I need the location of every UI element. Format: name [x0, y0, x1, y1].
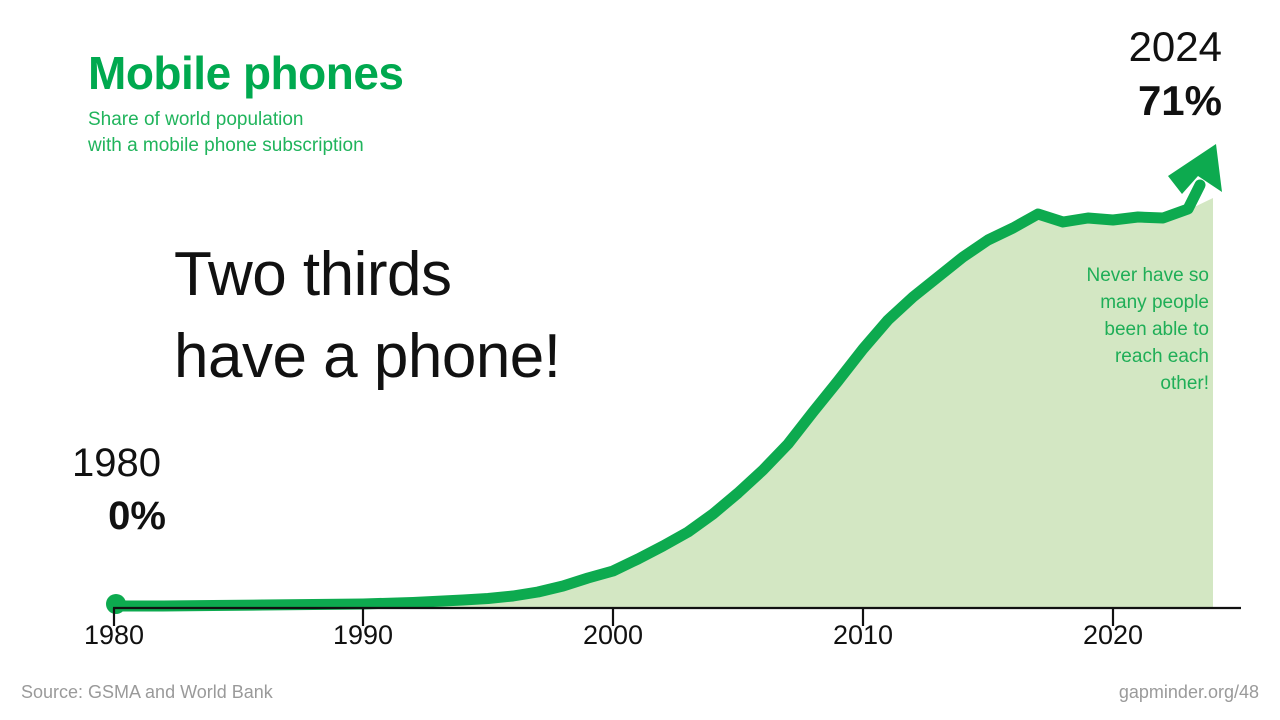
plot-annotation-line-3: been able to	[1029, 317, 1209, 344]
start-callout-year: 1980	[72, 443, 202, 483]
axis-tick-label-1980: 1980	[84, 620, 144, 651]
plot-annotation-line-2: many people	[1029, 290, 1209, 317]
chart-subtitle-line-1: Share of world population	[88, 107, 404, 133]
start-callout-value: 0%	[72, 496, 202, 536]
axis-tick-label-1990: 1990	[333, 620, 393, 651]
slide-canvas: 1980 1990 2000 2010 2020 Mobile phones S…	[0, 0, 1280, 720]
headline-text: Two thirds have a phone!	[174, 234, 561, 399]
title-block: Mobile phones Share of world population …	[88, 50, 404, 159]
axis-tick-label-2000: 2000	[583, 620, 643, 651]
start-callout: 1980 0%	[72, 443, 202, 536]
chart-title: Mobile phones	[88, 50, 404, 96]
chart-subtitle-line-2: with a mobile phone subscription	[88, 133, 404, 159]
footer-link[interactable]: gapminder.org/48	[1119, 682, 1259, 703]
axis-tick-label-2020: 2020	[1083, 620, 1143, 651]
footer-source-text: Source: GSMA and World Bank	[21, 682, 273, 703]
plot-annotation: Never have so many people been able to r…	[1029, 263, 1209, 398]
start-point-marker	[106, 594, 126, 614]
headline-line-2: have a phone!	[174, 316, 561, 398]
headline-line-1: Two thirds	[174, 234, 561, 316]
plot-annotation-line-4: reach each	[1029, 344, 1209, 371]
axis-tick-label-2010: 2010	[833, 620, 893, 651]
end-callout-year: 2024	[1129, 26, 1222, 68]
chart-subtitle: Share of world population with a mobile …	[88, 107, 404, 159]
plot-annotation-line-5: other!	[1029, 371, 1209, 398]
end-callout: 2024 71%	[1129, 26, 1222, 122]
plot-annotation-line-1: Never have so	[1029, 263, 1209, 290]
end-callout-value: 71%	[1129, 80, 1222, 122]
